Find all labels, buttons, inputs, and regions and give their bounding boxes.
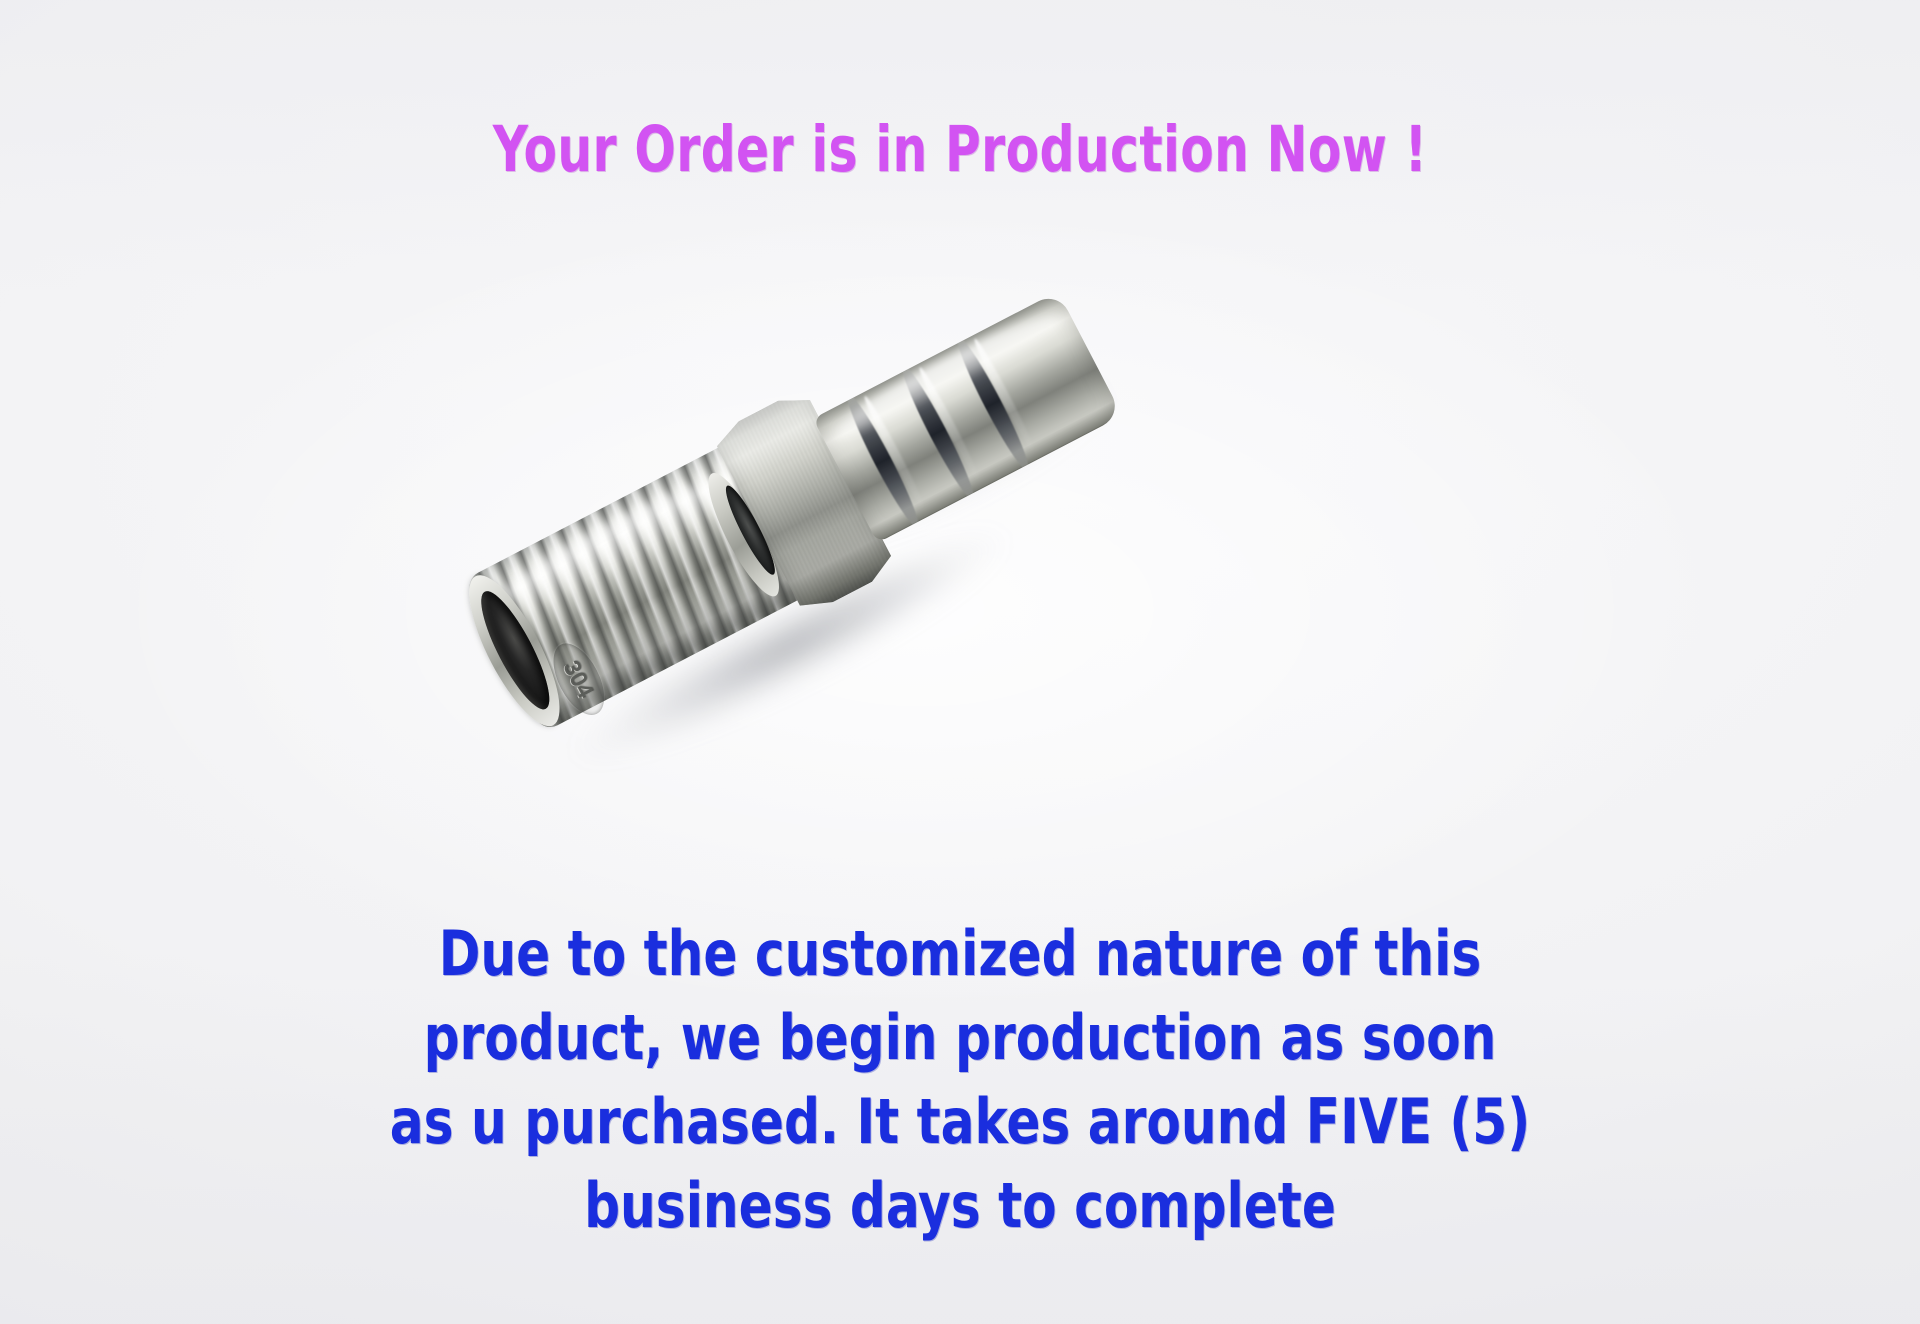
- notice-line-2: product, we begin production as soon: [96, 996, 1824, 1080]
- notice-line-3: as u purchased. It takes around FIVE (5): [96, 1080, 1824, 1164]
- notice-line-4: business days to complete: [96, 1164, 1824, 1248]
- product-image: 304: [430, 280, 1190, 750]
- promo-banner: Your Order is in Production Now ! 304: [0, 0, 1920, 1324]
- notice-line-1: Due to the customized nature of this: [96, 912, 1824, 996]
- page-title: Your Order is in Production Now !: [134, 118, 1785, 182]
- production-notice-text: Due to the customized nature of this pro…: [96, 912, 1824, 1248]
